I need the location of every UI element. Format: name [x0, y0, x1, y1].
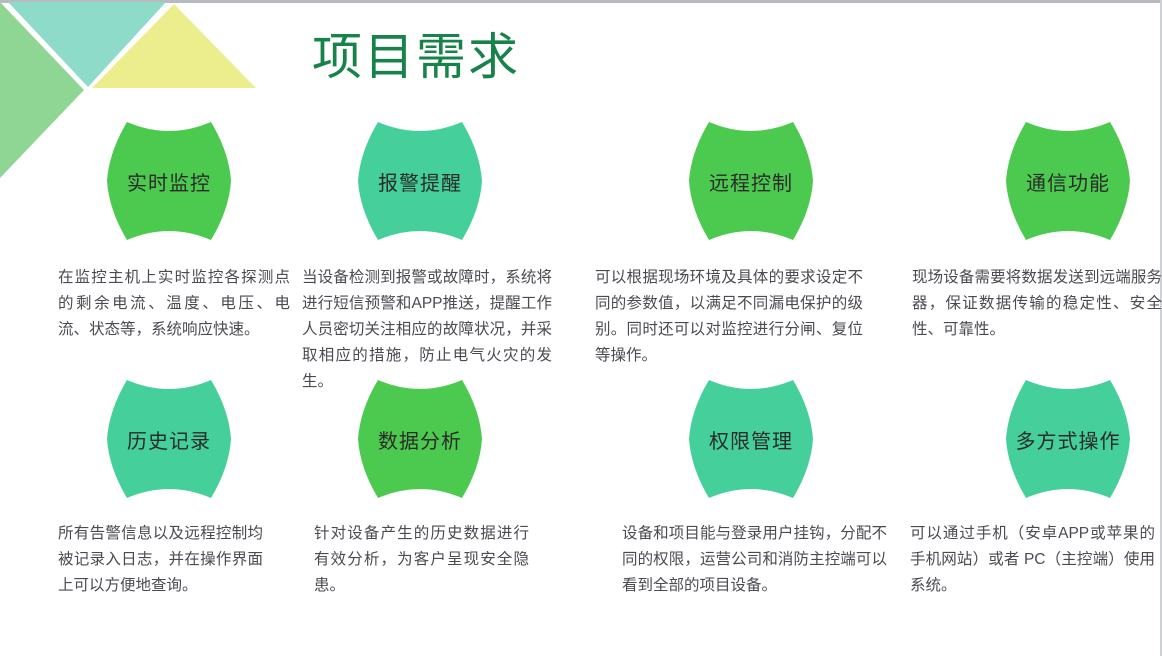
requirements-row-2: 历史记录 所有告警信息以及远程控制均被记录入日志，并在操作界面上可以方便地查询。…	[0, 376, 1162, 634]
badge-label: 实时监控	[127, 167, 211, 196]
badge-multi-mode-operation[interactable]: 多方式操作	[1002, 376, 1134, 502]
requirements-row-1: 实时监控 在监控主机上实时监控各探测点的剩余电流、温度、电压、电流、状态等，系统…	[0, 118, 1162, 376]
card-alarm-reminder[interactable]: 报警提醒 当设备检测到报警或故障时，系统将进行短信预警和APP推送，提醒工作人员…	[288, 118, 558, 395]
card-body: 可以通过手机（安卓APP或苹果的手机网站）或者 PC（主控端）使用系统。	[910, 521, 1155, 599]
badge-wrap: 数据分析	[288, 376, 558, 501]
card-body: 可以根据现场环境及具体的要求设定不同的参数值，以满足不同漏电保护的级别。同时还可…	[595, 265, 863, 369]
top-triangle-shape	[8, 2, 166, 87]
card-body: 现场设备需要将数据发送到远端服务器，保证数据传输的稳定性、安全性、可靠性。	[912, 265, 1162, 343]
page-title: 项目需求	[312, 26, 520, 88]
card-permission-management[interactable]: 权限管理 设备和项目能与登录用户挂钩，分配不同的权限，运营公司和消防主控端可以看…	[588, 376, 858, 599]
badge-label: 历史记录	[127, 425, 211, 454]
badge-wrap: 权限管理	[588, 376, 858, 501]
badge-label: 多方式操作	[1016, 425, 1121, 454]
badge-remote-control[interactable]: 远程控制	[685, 118, 817, 244]
card-communication-function[interactable]: 通信功能 现场设备需要将数据发送到远端服务器，保证数据传输的稳定性、安全性、可靠…	[895, 118, 1162, 343]
badge-history-record[interactable]: 历史记录	[103, 376, 235, 502]
card-body: 在监控主机上实时监控各探测点的剩余电流、温度、电压、电流、状态等，系统响应快速。	[58, 265, 290, 343]
badge-label: 报警提醒	[378, 167, 462, 196]
card-real-time-monitoring[interactable]: 实时监控 在监控主机上实时监控各探测点的剩余电流、温度、电压、电流、状态等，系统…	[28, 118, 298, 343]
badge-wrap: 报警提醒	[288, 118, 558, 243]
badge-label: 权限管理	[709, 425, 793, 454]
requirements-grid: 实时监控 在监控主机上实时监控各探测点的剩余电流、温度、电压、电流、状态等，系统…	[0, 118, 1162, 634]
card-body: 针对设备产生的历史数据进行有效分析，为客户呈现安全隐患。	[314, 521, 529, 599]
badge-label: 数据分析	[378, 425, 462, 454]
badge-communication-function[interactable]: 通信功能	[1002, 118, 1134, 244]
badge-wrap: 实时监控	[28, 118, 298, 243]
right-triangle-shape	[92, 4, 256, 88]
card-multi-mode-operation[interactable]: 多方式操作 可以通过手机（安卓APP或苹果的手机网站）或者 PC（主控端）使用系…	[895, 376, 1162, 599]
badge-wrap: 远程控制	[588, 118, 858, 243]
badge-wrap: 多方式操作	[895, 376, 1162, 501]
badge-data-analysis[interactable]: 数据分析	[354, 376, 486, 502]
slide-top-rule	[0, 0, 1162, 3]
badge-wrap: 历史记录	[28, 376, 298, 501]
badge-permission-management[interactable]: 权限管理	[685, 376, 817, 502]
card-data-analysis[interactable]: 数据分析 针对设备产生的历史数据进行有效分析，为客户呈现安全隐患。	[288, 376, 558, 599]
card-body: 设备和项目能与登录用户挂钩，分配不同的权限，运营公司和消防主控端可以看到全部的项…	[622, 521, 887, 599]
badge-wrap: 通信功能	[895, 118, 1162, 243]
badge-alarm-reminder[interactable]: 报警提醒	[354, 118, 486, 244]
badge-real-time-monitoring[interactable]: 实时监控	[103, 118, 235, 244]
card-remote-control[interactable]: 远程控制 可以根据现场环境及具体的要求设定不同的参数值，以满足不同漏电保护的级别…	[588, 118, 858, 369]
card-history-record[interactable]: 历史记录 所有告警信息以及远程控制均被记录入日志，并在操作界面上可以方便地查询。	[28, 376, 298, 599]
badge-label: 远程控制	[709, 167, 793, 196]
card-body: 所有告警信息以及远程控制均被记录入日志，并在操作界面上可以方便地查询。	[58, 521, 263, 599]
badge-label: 通信功能	[1026, 167, 1110, 196]
